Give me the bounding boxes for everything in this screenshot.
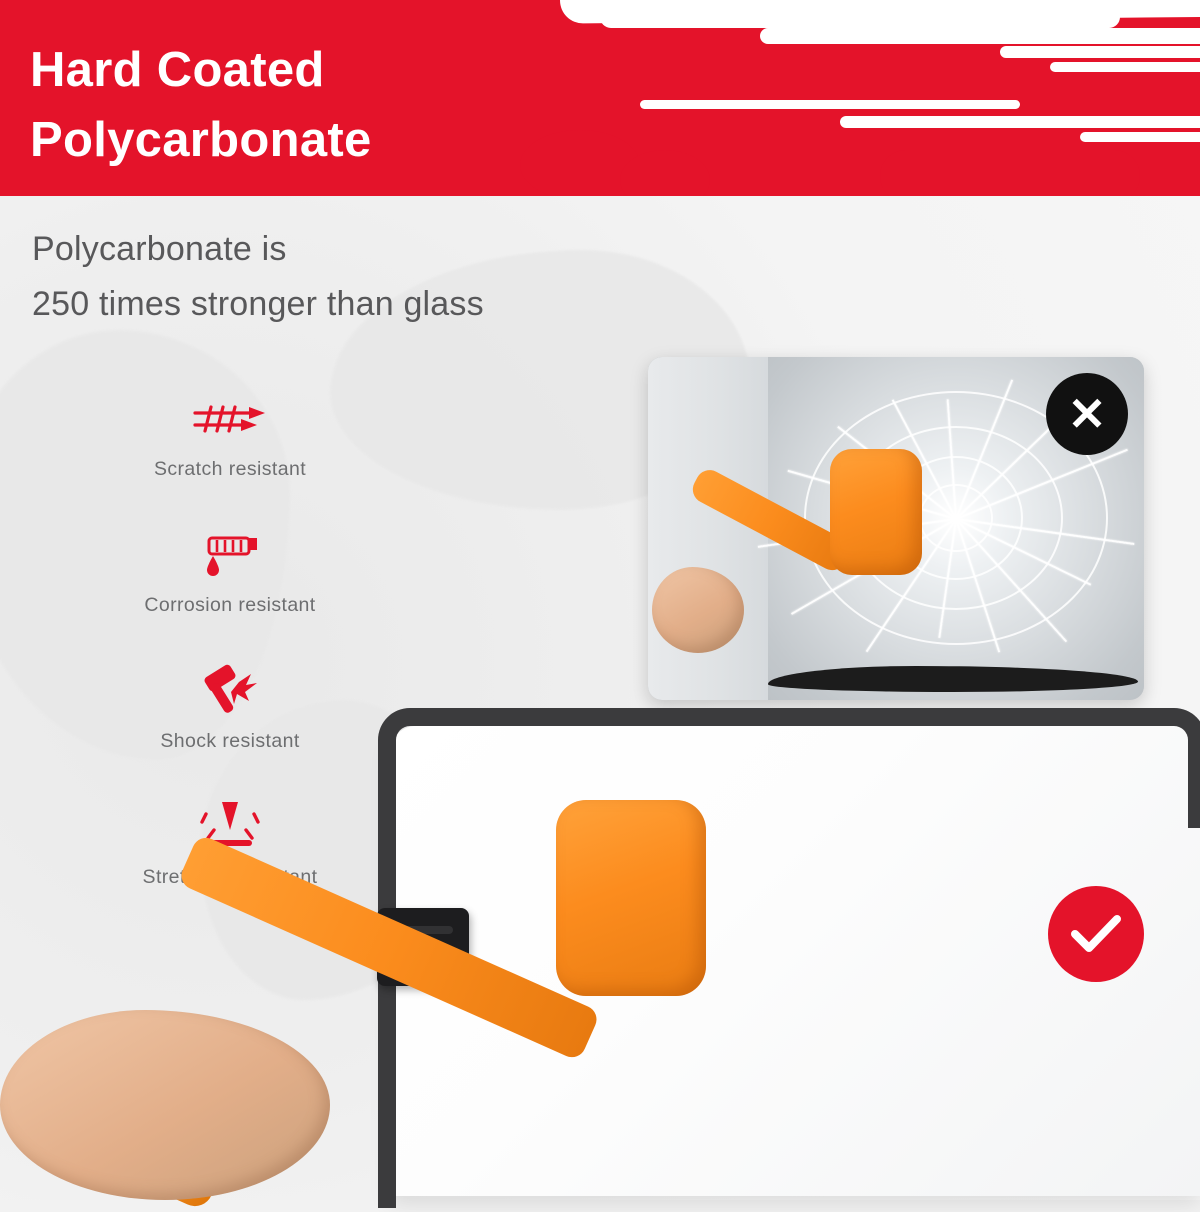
page-title: Hard Coated Polycarbonate	[30, 36, 372, 175]
paint-stroke	[760, 28, 1200, 44]
paint-stroke	[1050, 62, 1200, 72]
hand	[0, 1010, 330, 1200]
feature-list: Scratch resistant Corrosion resistant	[60, 386, 400, 930]
paint-stroke	[600, 6, 1120, 28]
feature-label: Corrosion resistant	[60, 594, 400, 617]
feature-item-corrosion-resistant: Corrosion resistant	[60, 522, 400, 658]
feature-label: Shock resistant	[60, 730, 400, 753]
stretching-impact-icon	[60, 794, 400, 860]
paint-stroke	[640, 100, 1020, 109]
x-icon: ✕	[1068, 391, 1107, 437]
subtitle-text: Polycarbonate is 250 times stronger than…	[32, 222, 484, 332]
x-badge: ✕	[1046, 373, 1128, 455]
feature-label: Scratch resistant	[60, 458, 400, 481]
paint-stroke	[840, 116, 1200, 128]
feature-item-scratch-resistant: Scratch resistant	[60, 386, 400, 522]
header-banner: Hard Coated Polycarbonate	[0, 0, 1200, 196]
hammer-head	[830, 449, 922, 575]
hammer-grip	[104, 1072, 247, 1212]
paint-stroke	[1000, 46, 1200, 58]
check-badge	[1048, 886, 1144, 982]
shock-hammer-icon	[60, 658, 400, 724]
paint-stroke	[1080, 132, 1200, 142]
panel-black-trim	[378, 708, 1200, 828]
panel-clip	[377, 908, 469, 986]
check-icon	[1069, 912, 1123, 956]
hand	[652, 567, 744, 653]
feature-item-stretching-resistant: Stretching resistant	[60, 794, 400, 930]
corrosion-drop-icon	[60, 522, 400, 588]
feature-label: Stretching resistant	[60, 866, 400, 889]
paint-drip	[880, 150, 1140, 196]
feature-item-shock-resistant: Shock resistant	[60, 658, 400, 794]
scratch-arrow-icon	[60, 386, 400, 452]
broken-glass-photo: ✕	[648, 357, 1144, 700]
page-root: Hard Coated Polycarbonate Polycarbonate …	[0, 0, 1200, 1200]
